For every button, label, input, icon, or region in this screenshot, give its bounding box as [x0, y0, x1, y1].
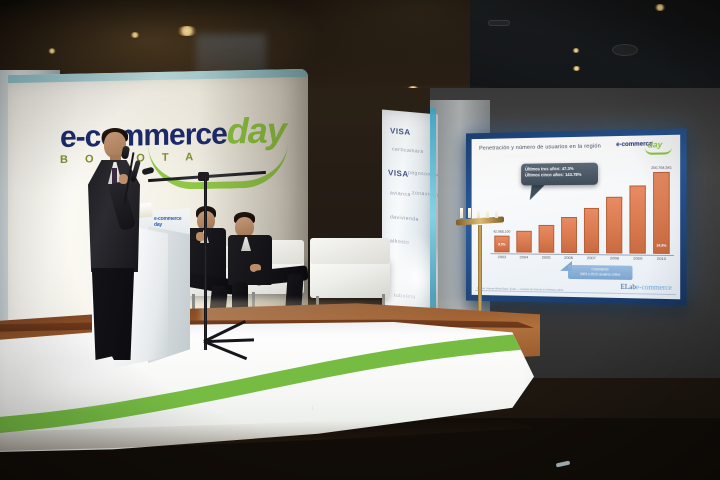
sponsor-wall-edge-light — [430, 108, 436, 323]
chart-year-label: 2005 — [538, 255, 554, 265]
ceiling-spotlight — [572, 48, 580, 53]
sponsor-logo: avianca — [390, 190, 411, 198]
callout-line-2: Últimos cinco años: 143.78% — [525, 172, 594, 179]
slide-title: Penetración y número de usuarios en la r… — [479, 143, 601, 151]
chart-year-label: 2010 — [653, 256, 670, 266]
chart-bar — [653, 172, 670, 254]
chart-year-label: 2003 — [494, 254, 509, 264]
armchair — [310, 258, 390, 298]
candle — [468, 208, 471, 218]
armchair-backrest — [310, 238, 390, 264]
sponsor-logo: VISA — [390, 126, 411, 137]
chart-bar-value-label: 42,968,100 — [493, 230, 510, 234]
ceiling-spotlight — [48, 48, 56, 54]
chart-year-label: 2007 — [583, 255, 599, 265]
slide-logo: e-commerce day — [616, 140, 674, 154]
speaker-legs — [90, 268, 136, 360]
candle — [495, 208, 498, 218]
candle — [477, 208, 480, 218]
chart-year-label: 2004 — [516, 254, 531, 264]
chart-bar-percent-label: 34.8% — [656, 244, 666, 248]
candle — [486, 208, 489, 218]
ceiling-vent — [612, 44, 638, 56]
sponsor-logo: davivienda — [390, 214, 419, 223]
slide-brand-footer-suffix: e-commerce — [636, 283, 672, 292]
footnote-line-2: 2003 a 2010 usuarios online — [568, 272, 632, 278]
ceiling-vent — [488, 20, 510, 26]
chart-callout: Últimos tres años: 47.3% Últimos cinco a… — [521, 163, 598, 186]
slide-logo-swoosh-icon — [645, 147, 672, 155]
ceiling-spotlight — [130, 32, 140, 38]
chart-bar — [516, 231, 531, 253]
chart-bar — [538, 225, 554, 253]
podium-logo: e-commerce day — [154, 216, 186, 226]
chart-bar — [561, 217, 577, 253]
chart-bar — [583, 208, 599, 253]
chart-bar — [630, 185, 646, 253]
chart-year-label: 2009 — [630, 256, 646, 266]
chart-bar-value-label: 200,764,541 — [651, 165, 672, 169]
chart-bar-column — [606, 168, 622, 253]
chart-bar-column — [630, 168, 646, 254]
ceiling-spotlight — [572, 66, 581, 71]
microphone-stand-pole — [204, 178, 207, 350]
ceiling-spotlight — [176, 26, 198, 36]
sponsor-logo: VISA — [388, 168, 409, 179]
chart-year-label: 2008 — [606, 255, 622, 265]
conference-stage-photo: e-commerceday B O G O T A VISA VISA cert… — [0, 0, 720, 480]
ceiling-spotlight — [654, 4, 666, 11]
slide-brand-footer: ELabe-commerce — [620, 283, 671, 292]
chart-bar-percent-label: 8.5% — [498, 242, 505, 246]
floor-cable — [312, 348, 314, 468]
chart-footnote: Crecimiento 2003 a 2010 usuarios online — [568, 265, 632, 280]
callout-tail-icon — [530, 184, 546, 200]
candle — [460, 208, 463, 218]
chart-bar-column: 200,764,54134.8% — [653, 168, 670, 254]
chart-bar — [606, 197, 622, 254]
sponsor-logo: certicamara — [392, 146, 424, 155]
